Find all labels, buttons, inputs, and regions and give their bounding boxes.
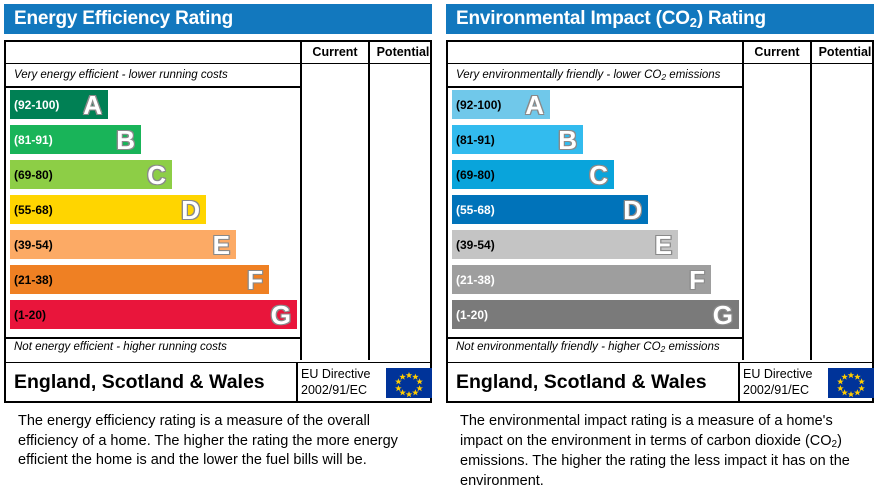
environmental-band-g: (1-20) G [448,298,742,331]
environmental-band-f: (21-38) F [448,263,742,296]
environmental-title-sub: 2 [690,15,697,30]
energy-bottom-caption: Not energy efficient - higher running co… [14,341,227,353]
environmental-band-e-range: (39-54) [456,238,495,252]
environmental-top-caption-sub: 2 [661,72,666,82]
environmental-band-b: (81-91) B [448,123,742,156]
environmental-band-a-letter: A [525,92,544,118]
environmental-band-f-letter: F [689,267,705,293]
energy-directive-line1: EU Directive [301,366,383,382]
energy-band-g: (1-20) G [6,298,300,331]
environmental-band-c-letter: C [589,162,608,188]
energy-band-d: (55-68) D [6,193,300,226]
environmental-footer-directive: EU Directive 2002/91/EC [743,366,825,398]
environmental-bottom-caption-divider [448,337,742,339]
energy-header-current: Current [302,42,368,63]
epc-chart-page: Energy Efficiency Rating Current Potenti… [0,0,880,493]
environmental-footer-countries: England, Scotland & Wales [456,363,707,402]
energy-description: The energy efficiency rating is a measur… [18,412,418,471]
energy-band-a-range: (92-100) [14,98,59,112]
environmental-band-b-range: (81-91) [456,133,495,147]
environmental-band-g-letter: G [713,302,733,328]
environmental-top-caption-post: emissions [666,69,720,81]
energy-column-divider-1 [300,42,302,360]
environmental-header-potential: Potential [812,42,878,63]
energy-band-b-range: (81-91) [14,133,53,147]
energy-efficiency-panel: Energy Efficiency Rating Current Potenti… [0,0,436,493]
energy-band-c-letter: C [147,162,166,188]
environmental-top-caption-pre: Very environmentally friendly - lower CO [456,69,661,81]
energy-band-c-range: (69-80) [14,168,53,182]
environmental-top-caption: Very environmentally friendly - lower CO… [456,69,720,81]
energy-band-e-letter: E [213,232,230,258]
environmental-header-current: Current [744,42,810,63]
environmental-column-header-row: Current Potential [448,42,872,64]
energy-band-g-bar [10,300,297,329]
energy-band-g-range: (1-20) [14,308,46,322]
energy-efficiency-title-text: Energy Efficiency Rating [14,8,233,29]
environmental-footer-divider [738,363,740,402]
energy-band-b-letter: B [116,127,135,153]
environmental-directive-line2: 2002/91/EC [743,382,825,398]
environmental-bands: (92-100) A (81-91) B (69-80) C [448,88,742,337]
eu-flag-icon-right [828,368,874,398]
energy-footer-divider [296,363,298,402]
energy-band-f-letter: F [247,267,263,293]
environmental-band-a-range: (92-100) [456,98,501,112]
environmental-description-pre: The environmental impact rating is a mea… [460,413,833,449]
energy-footer-row: England, Scotland & Wales EU Directive 2… [6,362,430,403]
environmental-band-e: (39-54) E [448,228,742,261]
environmental-impact-title: Environmental Impact (CO2) Rating [446,4,874,34]
environmental-impact-chart-box: Current Potential Very environmentally f… [446,40,874,403]
energy-band-e-range: (39-54) [14,238,53,252]
energy-top-caption: Very energy efficient - lower running co… [14,69,228,81]
energy-efficiency-title: Energy Efficiency Rating [4,4,432,34]
environmental-bottom-caption-pre: Not environmentally friendly - higher CO [456,341,661,353]
energy-band-b: (81-91) B [6,123,300,156]
energy-band-e: (39-54) E [6,228,300,261]
energy-band-d-range: (55-68) [14,203,53,217]
energy-footer-countries: England, Scotland & Wales [14,363,265,402]
environmental-impact-panel: Environmental Impact (CO2) Rating Curren… [442,0,878,493]
environmental-bottom-caption-sub: 2 [661,344,666,354]
energy-bottom-caption-divider [6,337,300,339]
environmental-band-d-letter: D [623,197,642,223]
environmental-column-divider-1 [742,42,744,360]
environmental-bottom-caption-post: emissions [665,341,719,353]
energy-column-divider-2 [368,42,370,360]
environmental-band-d-range: (55-68) [456,203,495,217]
environmental-band-c-range: (69-80) [456,168,495,182]
environmental-title-pre: Environmental Impact (CO [456,8,690,29]
energy-band-g-letter: G [271,302,291,328]
environmental-description: The environmental impact rating is a mea… [460,412,860,491]
environmental-title-post: ) Rating [697,8,766,29]
environmental-band-c: (69-80) C [448,158,742,191]
environmental-column-divider-2 [810,42,812,360]
energy-band-f: (21-38) F [6,263,300,296]
environmental-band-b-letter: B [558,127,577,153]
energy-footer-directive: EU Directive 2002/91/EC [301,366,383,398]
energy-bands: (92-100) A (81-91) B (69-80) C [6,88,300,337]
energy-band-c: (69-80) C [6,158,300,191]
energy-header-potential: Potential [370,42,436,63]
energy-band-a: (92-100) A [6,88,300,121]
environmental-band-d: (55-68) D [448,193,742,226]
energy-directive-line2: 2002/91/EC [301,382,383,398]
environmental-directive-line1: EU Directive [743,366,825,382]
environmental-band-f-range: (21-38) [456,273,495,287]
energy-band-f-range: (21-38) [14,273,53,287]
environmental-footer-row: England, Scotland & Wales EU Directive 2… [448,362,872,403]
environmental-band-g-bar [452,300,739,329]
environmental-description-sub: 2 [832,439,838,450]
energy-band-a-letter: A [83,92,102,118]
environmental-band-a: (92-100) A [448,88,742,121]
energy-band-d-letter: D [181,197,200,223]
environmental-band-g-range: (1-20) [456,308,488,322]
eu-flag-icon-left [386,368,432,398]
environmental-band-e-letter: E [655,232,672,258]
environmental-bottom-caption: Not environmentally friendly - higher CO… [456,341,720,353]
energy-efficiency-chart-box: Current Potential Very energy efficient … [4,40,432,403]
energy-column-header-row: Current Potential [6,42,430,64]
